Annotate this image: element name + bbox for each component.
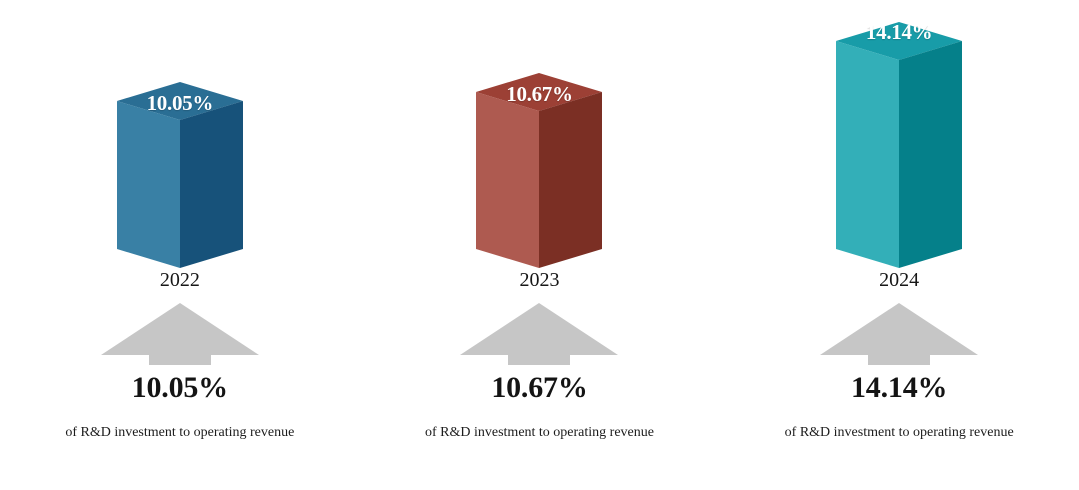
stat-value-2023: 10.67%: [360, 371, 720, 405]
stat-value-2022: 10.05%: [0, 371, 360, 405]
bar-stage: 14.14%: [719, 0, 1079, 268]
bar-stage: 10.05%: [0, 0, 360, 268]
arrow-wrap: [0, 303, 360, 365]
bar-3d-2024[interactable]: [836, 22, 962, 268]
year-label-2023: 2023: [360, 268, 720, 292]
infographic-root: 10.05% 2022 10.05% of R&D investment to …: [0, 0, 1079, 490]
up-arrow-icon: [460, 303, 618, 365]
bar-right-face: [539, 92, 602, 268]
bar-stage: 10.67%: [360, 0, 720, 268]
arrow-wrap: [719, 303, 1079, 365]
bar-left-face: [836, 41, 899, 268]
stat-caption-2022: of R&D investment to operating revenue: [50, 424, 310, 442]
year-label-2024: 2024: [719, 268, 1079, 292]
stat-caption-2024: of R&D investment to operating revenue: [769, 424, 1029, 442]
bar-right-face: [180, 101, 243, 268]
year-label-2022: 2022: [0, 268, 360, 292]
stat-caption-2023: of R&D investment to operating revenue: [409, 424, 669, 442]
stat-column-2022: 10.05% 2022 10.05% of R&D investment to …: [0, 0, 360, 490]
stat-column-2024: 14.14% 2024 14.14% of R&D investment to …: [719, 0, 1079, 490]
up-arrow-icon: [820, 303, 978, 365]
bar-3d-2022[interactable]: [117, 82, 243, 268]
bar-left-face: [476, 92, 539, 268]
bar-3d-2023[interactable]: [476, 73, 602, 268]
bar-left-face: [117, 101, 180, 268]
up-arrow-icon: [101, 303, 259, 365]
stat-value-2024: 14.14%: [719, 371, 1079, 405]
bar-right-face: [899, 41, 962, 268]
stat-column-2023: 10.67% 2023 10.67% of R&D investment to …: [360, 0, 720, 490]
arrow-wrap: [360, 303, 720, 365]
